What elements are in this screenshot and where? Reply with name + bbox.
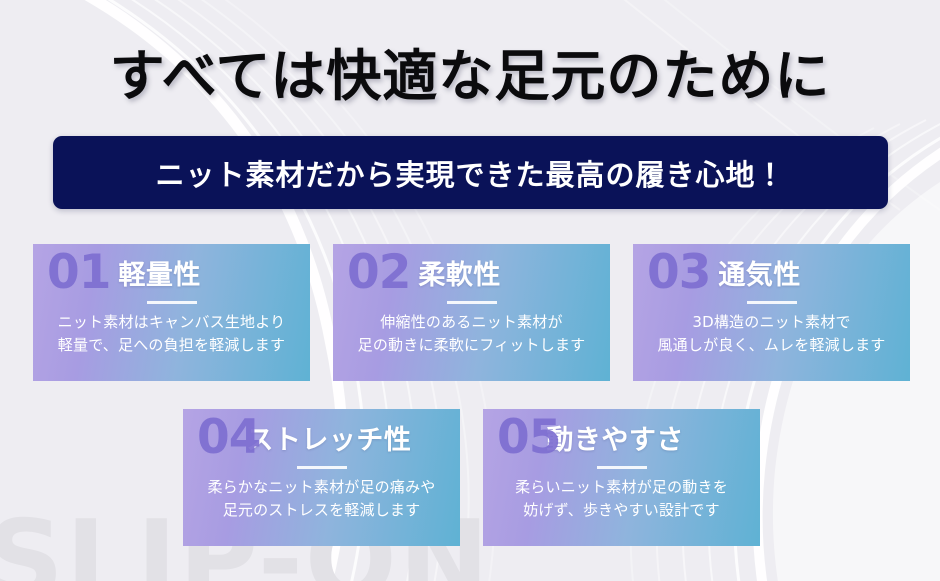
card-divider-01 <box>147 301 197 304</box>
card-body-04: 柔らかなニット素材が足の痛みや 足元のストレスを軽減します <box>183 476 460 523</box>
card-header-02: 02 柔軟性 <box>333 244 610 300</box>
card-body-line1-05: 柔らいニット素材が足の動きを <box>493 476 750 499</box>
card-number-05: 05 <box>497 414 560 461</box>
card-number-01: 01 <box>47 249 110 296</box>
card-body-line1-04: 柔らかなニット素材が足の痛みや <box>193 476 450 499</box>
card-number-02: 02 <box>347 249 410 296</box>
sub-banner-text: ニット素材だから実現できた最高の履き心地！ <box>155 152 785 194</box>
card-header-04: 04 ストレッチ性 <box>183 409 460 465</box>
card-body-line2-05: 妨げず、歩きやすい設計です <box>493 499 750 522</box>
card-body-line1-01: ニット素材はキャンバス生地より <box>43 311 300 334</box>
feature-card-05: 05 動きやすさ 柔らいニット素材が足の動きを 妨げず、歩きやすい設計です <box>483 409 760 546</box>
feature-card-03: 03 通気性 3D構造のニット素材で 風通しが良く、ムレを軽減します <box>633 244 910 381</box>
card-number-04: 04 <box>197 414 260 461</box>
card-body-line2-01: 軽量で、足への負担を軽減します <box>43 334 300 357</box>
feature-card-01: 01 軽量性 ニット素材はキャンバス生地より 軽量で、足への負担を軽減します <box>33 244 310 381</box>
card-body-05: 柔らいニット素材が足の動きを 妨げず、歩きやすい設計です <box>483 476 760 523</box>
promo-graphic: SLIP-ON すべては快適な足元のために ニット素材だから実現できた最高の履き… <box>0 0 940 581</box>
card-header-05: 05 動きやすさ <box>483 409 760 465</box>
card-divider-03 <box>747 301 797 304</box>
sub-banner: ニット素材だから実現できた最高の履き心地！ <box>53 136 888 209</box>
card-title-03: 通気性 <box>718 262 801 289</box>
card-number-03: 03 <box>647 249 710 296</box>
card-divider-02 <box>447 301 497 304</box>
card-body-03: 3D構造のニット素材で 風通しが良く、ムレを軽減します <box>633 311 910 358</box>
card-header-03: 03 通気性 <box>633 244 910 300</box>
card-body-line2-02: 足の動きに柔軟にフィットします <box>343 334 600 357</box>
card-header-01: 01 軽量性 <box>33 244 310 300</box>
feature-card-04: 04 ストレッチ性 柔らかなニット素材が足の痛みや 足元のストレスを軽減します <box>183 409 460 546</box>
card-title-01: 軽量性 <box>118 262 201 289</box>
main-title: すべては快適な足元のために <box>0 46 940 108</box>
card-title-02: 柔軟性 <box>418 262 501 289</box>
card-title-05: 動きやすさ <box>546 427 684 454</box>
card-body-02: 伸縮性のあるニット素材が 足の動きに柔軟にフィットします <box>333 311 610 358</box>
card-title-04: ストレッチ性 <box>246 427 411 454</box>
card-body-line1-03: 3D構造のニット素材で <box>643 311 900 334</box>
card-body-line1-02: 伸縮性のあるニット素材が <box>343 311 600 334</box>
card-body-line2-03: 風通しが良く、ムレを軽減します <box>643 334 900 357</box>
feature-card-02: 02 柔軟性 伸縮性のあるニット素材が 足の動きに柔軟にフィットします <box>333 244 610 381</box>
card-divider-05 <box>597 466 647 469</box>
card-divider-04 <box>297 466 347 469</box>
card-body-01: ニット素材はキャンバス生地より 軽量で、足への負担を軽減します <box>33 311 310 358</box>
card-body-line2-04: 足元のストレスを軽減します <box>193 499 450 522</box>
